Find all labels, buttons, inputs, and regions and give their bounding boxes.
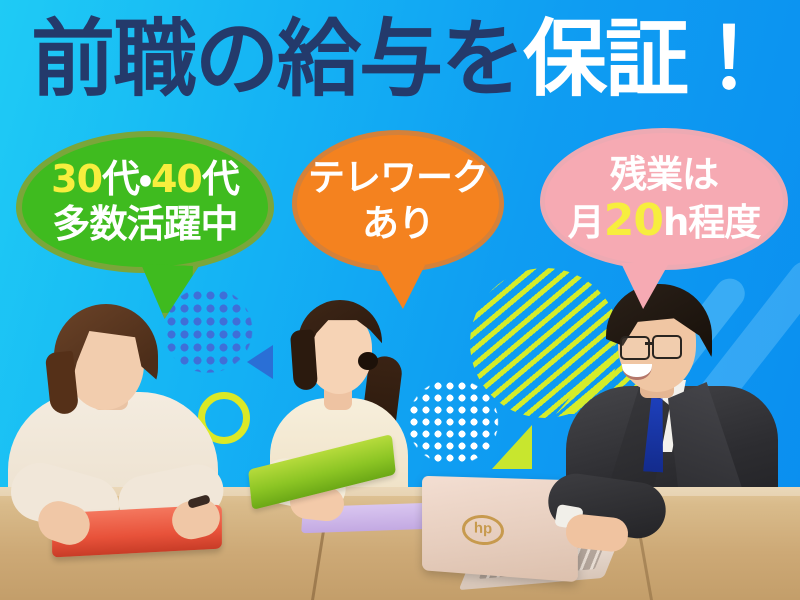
bubble-telework-line2: あり bbox=[362, 201, 434, 247]
headline-white-text: 保証！ bbox=[523, 10, 769, 108]
bubble-overtime: 残業は 月20h程度 bbox=[540, 128, 788, 270]
bubble-telework: テレワーク あり bbox=[292, 130, 504, 272]
eyeglasses-bridge-icon bbox=[645, 342, 654, 345]
bubble-age-line1: 30代・40代 bbox=[51, 157, 239, 202]
overtime-prefix: 月 bbox=[568, 201, 604, 244]
bubble-overtime-line2: 月20h程度 bbox=[568, 198, 761, 246]
bubble-age-range: 30代・40代 多数活躍中 bbox=[16, 131, 274, 273]
age-30-suffix: 代・ bbox=[102, 157, 151, 201]
bubble-overtime-line1: 残業は bbox=[610, 152, 718, 198]
headline-navy-text: 前職の給与を bbox=[31, 10, 523, 108]
hair-tie-icon bbox=[358, 352, 378, 370]
age-40-value: 40 bbox=[151, 157, 202, 201]
banner-root: hp 前職の給与を保証！ 30代・40代 多数活躍中 テレワーク あり 残業は … bbox=[0, 0, 800, 600]
overtime-hours-value: 20 bbox=[604, 195, 663, 246]
woman-middle-hair-side bbox=[290, 329, 318, 391]
bubble-telework-line1: テレワーク bbox=[308, 155, 488, 201]
overtime-suffix: h程度 bbox=[663, 201, 760, 244]
age-40-suffix: 代 bbox=[202, 157, 239, 201]
eyeglasses-icon bbox=[652, 335, 682, 359]
headline: 前職の給与を保証！ bbox=[0, 8, 800, 110]
eyeglasses-icon bbox=[620, 336, 650, 360]
age-30-value: 30 bbox=[51, 157, 102, 201]
bubble-age-line2: 多数活躍中 bbox=[52, 202, 237, 247]
